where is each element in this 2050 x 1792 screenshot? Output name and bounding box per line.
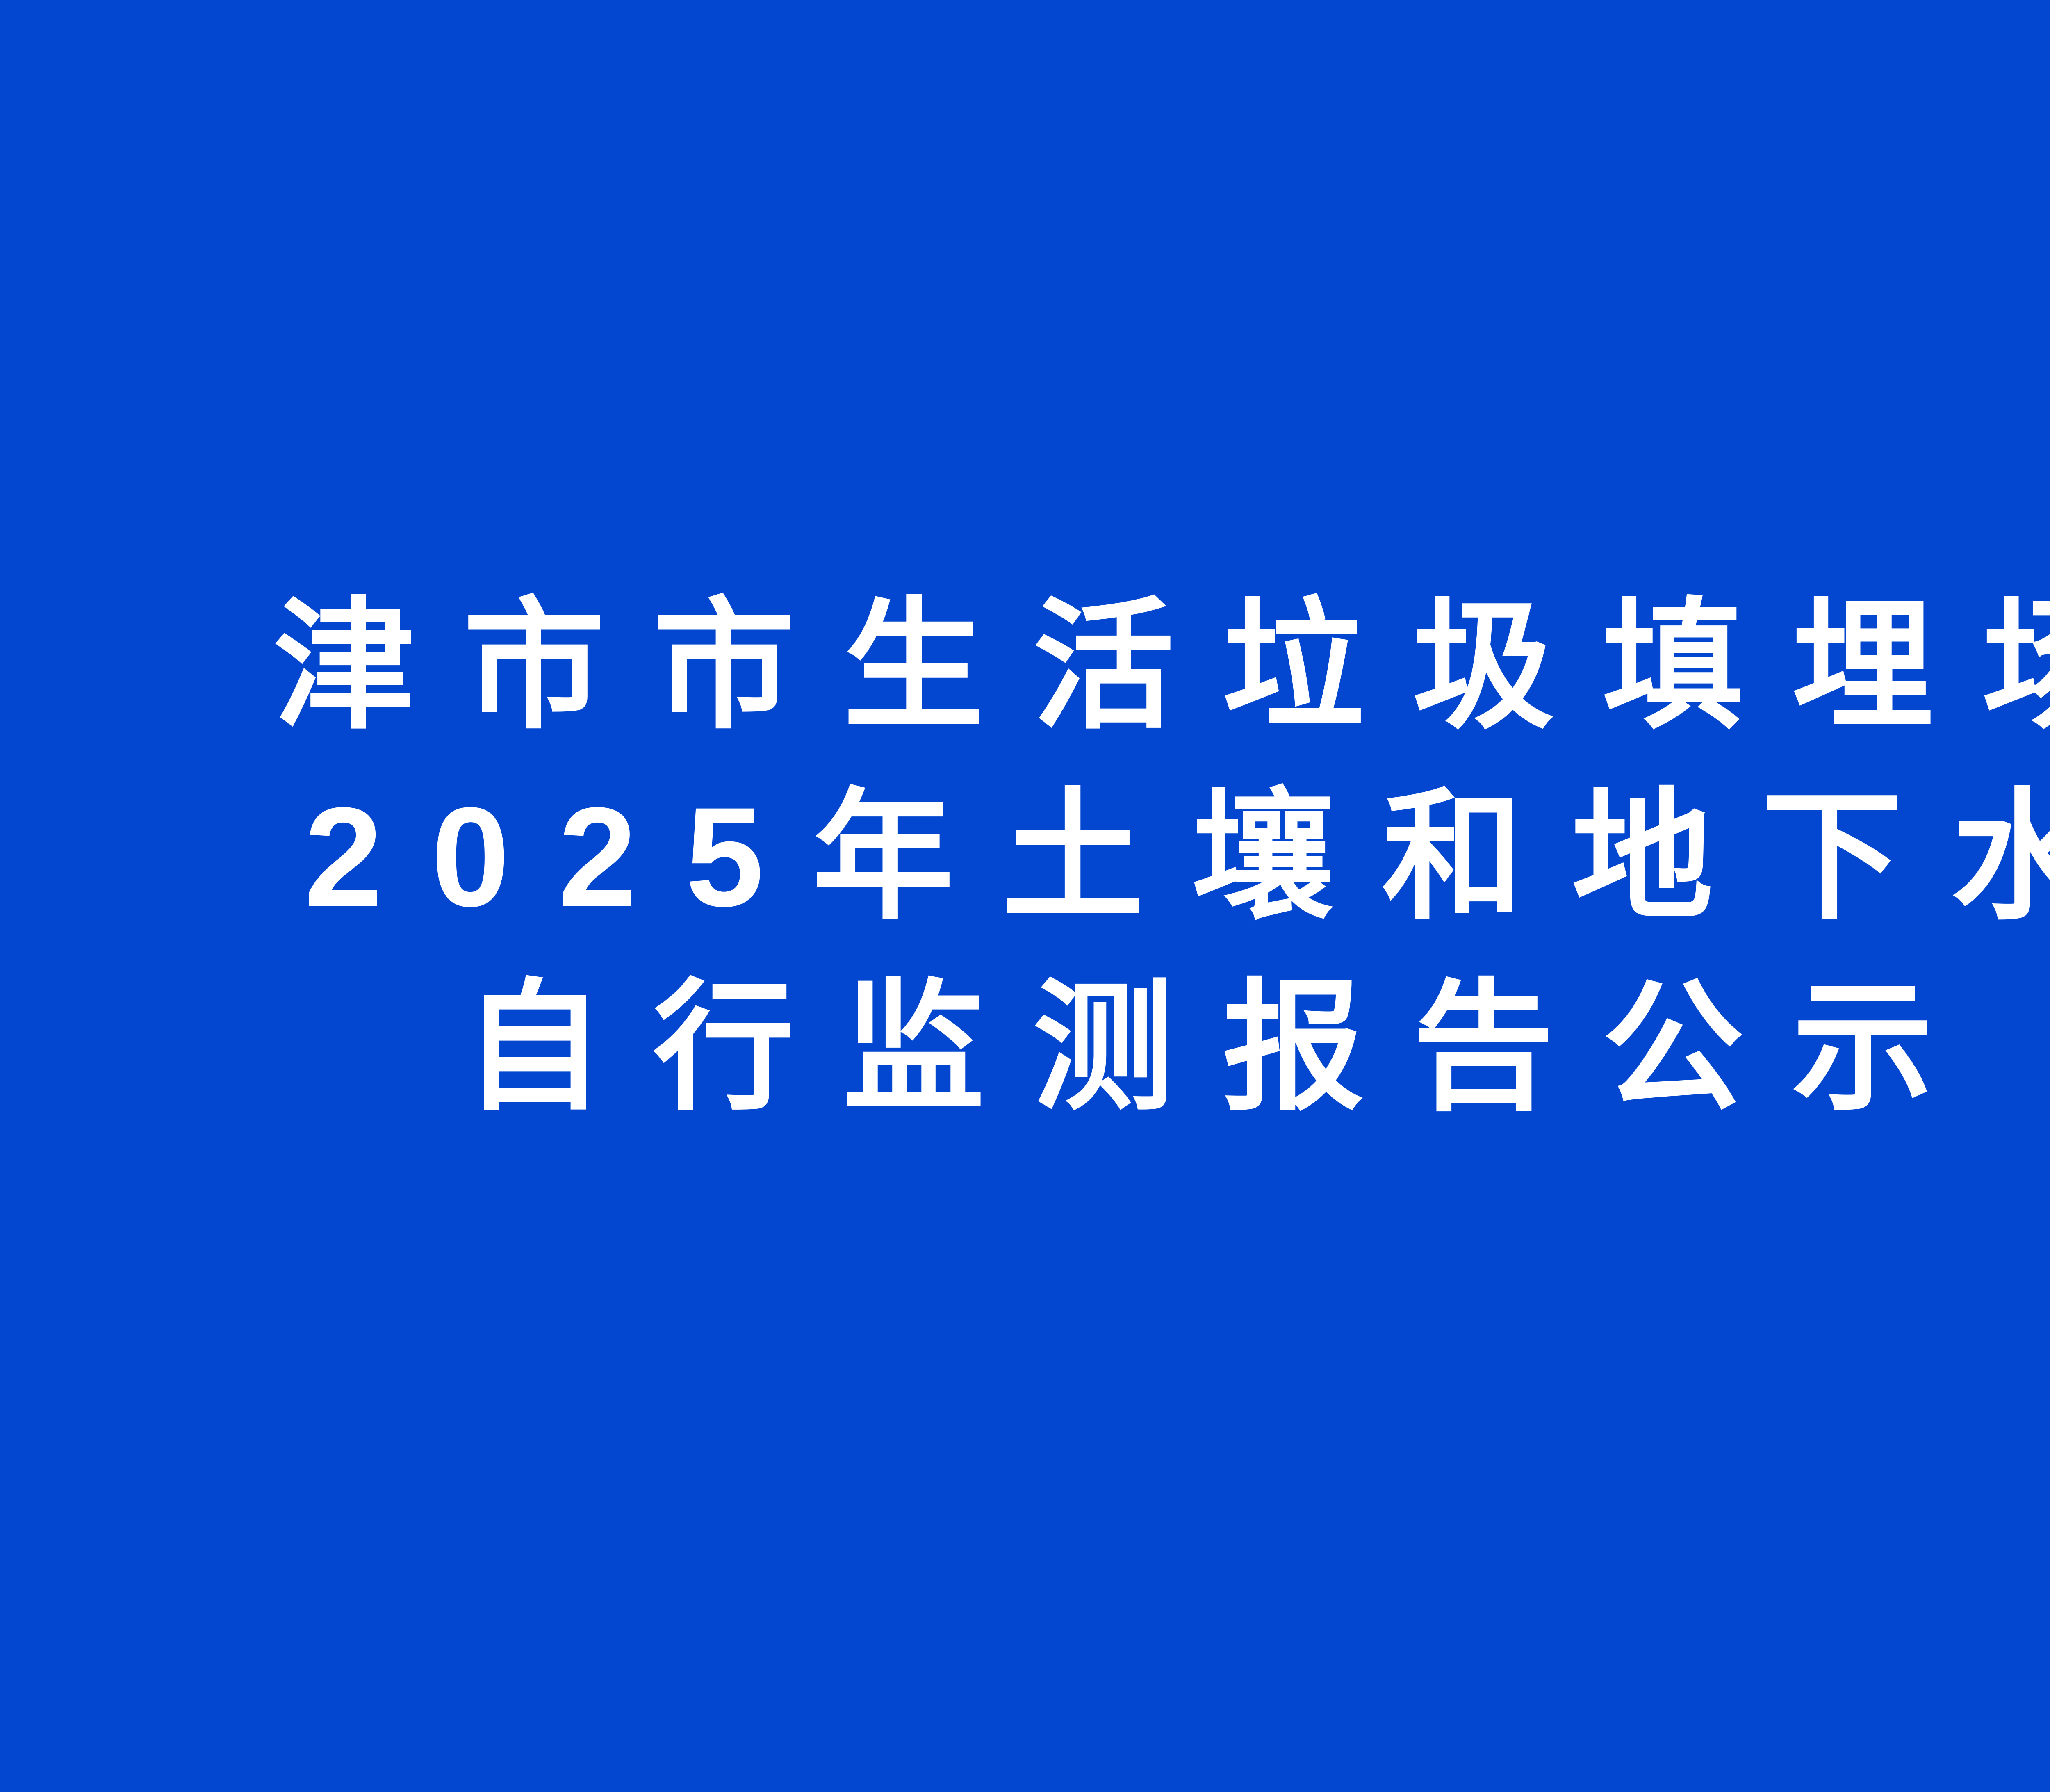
title-line-subject: 2025年土壤和地下水 bbox=[256, 787, 2050, 928]
announcement-poster: 津市市生活垃圾填埋场 2025年土壤和地下水 自行监测报告公示 bbox=[0, 0, 2050, 1792]
title-line-organization: 津市市生活垃圾填埋场 bbox=[225, 596, 2050, 737]
title-line-document-type: 自行监测报告公示 bbox=[415, 977, 1982, 1119]
announcement-title-block: 津市市生活垃圾填埋场 2025年土壤和地下水 自行监测报告公示 bbox=[0, 596, 2050, 1119]
